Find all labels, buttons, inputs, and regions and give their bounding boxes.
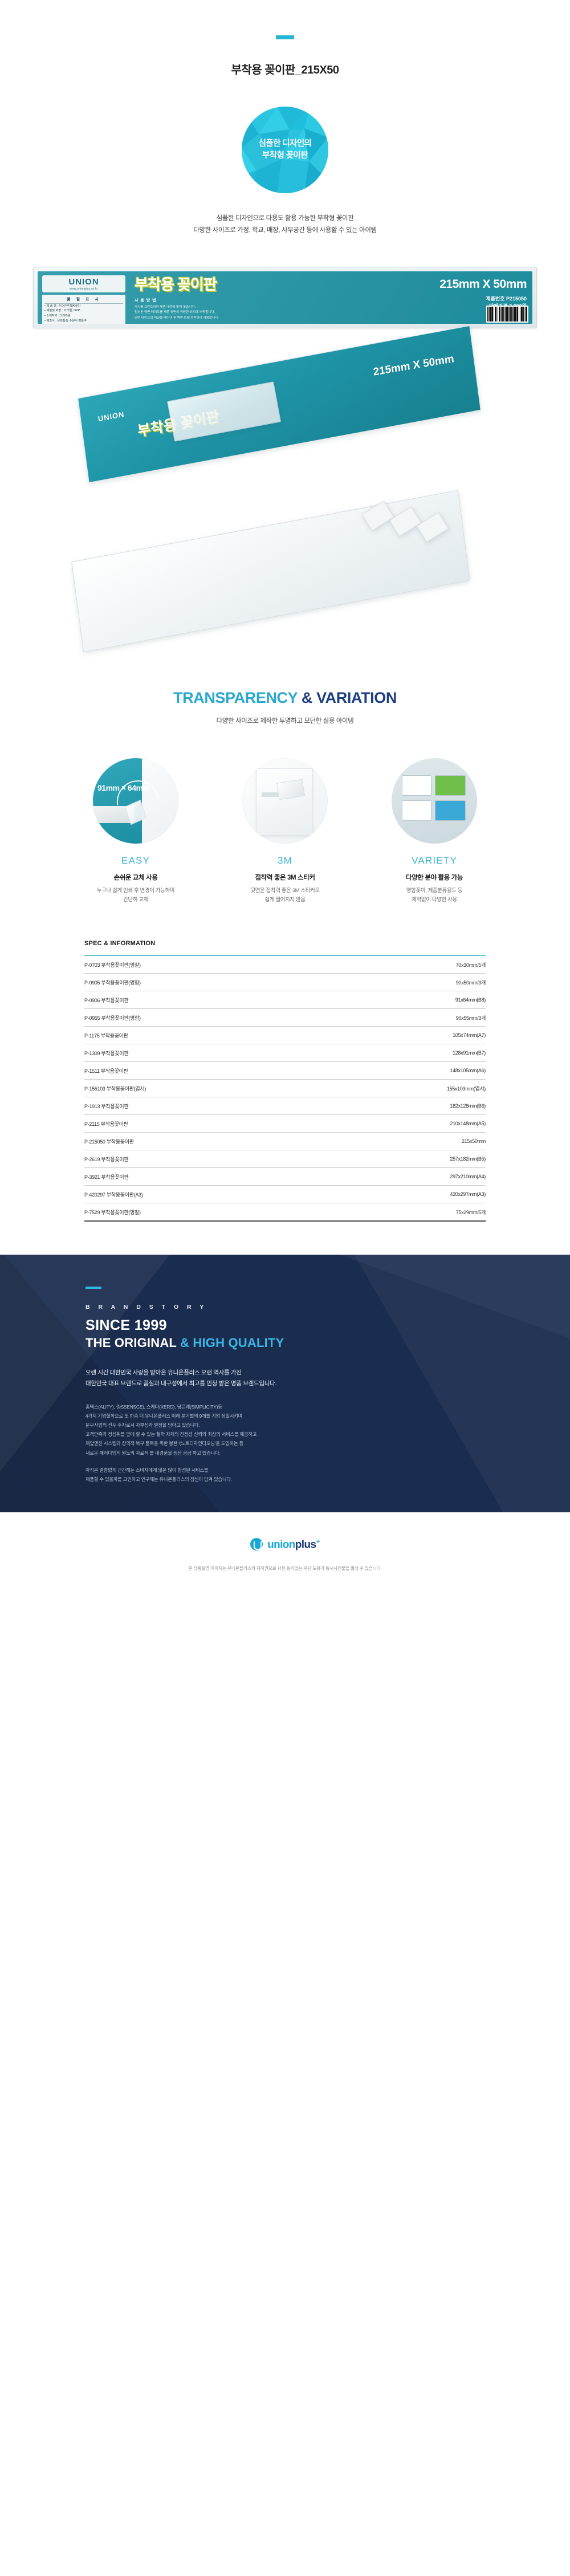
- table-row: P-1175 부착용꽂이판105x74mm(A7): [84, 1026, 486, 1044]
- spec-size: 215x50mm: [331, 1132, 486, 1150]
- spec-size: 90x50mm/3개: [331, 973, 486, 991]
- feature-easy-desc-line2: 간단히 교체: [123, 897, 148, 903]
- package-box: UNION www.unionplus.co.kr 품 질 표 시 • 제 품 …: [33, 267, 537, 328]
- unionplus-mark-icon: [250, 1538, 263, 1551]
- package-left-column: UNION www.unionplus.co.kr 품 질 표 시 • 제 품 …: [38, 271, 129, 324]
- package-quality-list: • 제 품 명 : P.O.P부착용꽂이 • 재질및 포장 : 아크릴, OPP…: [44, 304, 123, 324]
- hero-circle-badge: 심플한 디자인의 부착형 꽂이판: [242, 107, 328, 193]
- feature-easy: 91mm × 64mm EASY 손쉬운 교체 사용 누구나 쉽게 인쇄 후 변…: [74, 758, 197, 905]
- table-row: P-2619 부착용꽂이판257x182mm(B5): [84, 1150, 486, 1167]
- spec-name: P-0703 부착용꽂이판(명찰): [84, 955, 331, 974]
- page-footer: unionplus+ 본 상품설명 이미지는 유니온플러스의 저작권으로 사전 …: [0, 1512, 570, 1587]
- table-row: P-420297 부착용꽂이판(A3)420x297mm(A3): [84, 1185, 486, 1203]
- hero-badge-line1: 심플한 디자인의: [259, 139, 312, 148]
- brand-lead-line2: 대한민국 대표 브랜드로 품질과 내구성에서 최고를 인정 받은 명품 브랜드입…: [85, 1380, 276, 1387]
- package-photo-section: UNION www.unionplus.co.kr 품 질 표 시 • 제 품 …: [0, 267, 570, 328]
- feature-3m-title: 3M: [223, 855, 347, 866]
- feature-variety-panel: [402, 775, 431, 796]
- feature-variety-title: VARIETY: [373, 855, 496, 866]
- table-row: P-2115 부착용꽂이판210x148mm(A5): [84, 1114, 486, 1132]
- spec-table-body: P-0703 부착용꽂이판(명찰)70x30mm/5개 P-0905 부착용꽂이…: [84, 955, 486, 1221]
- feature-easy-desc-line1: 누구나 쉽게 인쇄 후 변경이 가능하며: [97, 888, 174, 894]
- spec-section: SPEC & INFORMATION P-0703 부착용꽂이판(명찰)70x3…: [0, 940, 570, 1222]
- brand-tagline-part2: & HIGH QUALITY: [180, 1336, 284, 1350]
- logo-text-plus: plus: [295, 1539, 316, 1551]
- footer-copyright-note: 본 상품설명 이미지는 유니온플러스의 저작권으로 사전 동의없는 무단 도용과…: [0, 1565, 570, 1572]
- brand-body-line8: 제품할 수 있을까를 고민하고 연구해는 유니온플러스의 정신이 담겨 있습니다…: [85, 1476, 232, 1482]
- package-size-text: 215mm X 50mm: [398, 278, 527, 290]
- spec-size: 90x55mm/3개: [331, 1008, 486, 1026]
- feature-3m-sheet: [256, 768, 313, 836]
- list-item: • 재질및 포장 : 아크릴, OPP: [44, 308, 123, 314]
- unionplus-wordmark: unionplus+: [267, 1537, 320, 1551]
- table-row: P-1913 부착용꽂이판182x128mm(B6): [84, 1097, 486, 1114]
- hero-divider-bar: [276, 35, 294, 39]
- package-brand-url: www.unionplus.co.kr: [45, 287, 123, 291]
- spec-title: SPEC & INFORMATION: [84, 940, 486, 947]
- spec-name: P-2115 부착용꽂이판: [84, 1114, 331, 1132]
- package-headline: 부착용 꽂이판: [135, 277, 396, 292]
- page-title: 부착용 꽂이판_215X50: [0, 63, 570, 77]
- package-quality-table: 품 질 표 시 • 제 품 명 : P.O.P부착용꽂이 • 재질및 포장 : …: [42, 295, 125, 324]
- feature-3m-desc-line1: 뒷면은 접착력 좋은 3M 스티커로: [250, 888, 319, 894]
- feature-variety-subtitle: 다양한 분야 활용 가능: [373, 873, 496, 882]
- spec-size: 148x105mm(A6): [331, 1061, 486, 1079]
- brand-body-line7: 아직은 결함없게 근간해는 소비자에게 많은 많이 합성된 서비스를: [85, 1467, 208, 1473]
- transparency-title-part1: TRANSPARENCY: [173, 689, 298, 706]
- feature-variety-desc-line2: 제약없이 다양한 사용: [412, 897, 457, 903]
- hero-section: 부착용 꽂이판_215X50: [0, 0, 570, 237]
- hero-badge-line2: 부착형 꽂이판: [262, 151, 308, 160]
- logo-plus-sign: +: [316, 1537, 319, 1545]
- list-item: • 제 품 명 : P.O.P부착용꽂이: [44, 304, 123, 309]
- spec-name: P-1175 부착용꽂이판: [84, 1026, 331, 1044]
- transparency-title-part2: & VARIATION: [302, 689, 397, 706]
- hero-badge-wrap: 심플한 디자인의 부착형 꽂이판: [0, 107, 570, 193]
- spec-name: P-1913 부착용꽂이판: [84, 1097, 331, 1114]
- transparency-heading-section: TRANSPARENCY & VARIATION 다양한 사이즈로 제작한 투명…: [0, 689, 570, 725]
- brand-since-line: SINCE 1999: [85, 1317, 484, 1334]
- transparency-subtitle: 다양한 사이즈로 제작한 투명하고 모던한 실용 아이템: [0, 716, 570, 725]
- hero-desc-line2: 다양한 사이즈로 가정, 학교, 매장, 사무공간 등에 사용할 수 있는 아이…: [193, 227, 376, 234]
- spec-name: P-3921 부착용꽂이판: [84, 1167, 331, 1185]
- spec-name: P-0906 부착용꽂이판: [84, 991, 331, 1008]
- feature-3m-desc: 뒷면은 접착력 좋은 3M 스티커로 쉽게 떨어지지 않음: [223, 886, 347, 905]
- feature-variety-panel-green: [435, 775, 466, 796]
- feature-3m: 3M 접착력 좋은 3M 스티커 뒷면은 접착력 좋은 3M 스티커로 쉽게 떨…: [223, 758, 347, 905]
- product-angled-shot-teal: 215mm X 50mm 부착용 꽂이판 UNION: [0, 328, 570, 499]
- plate-brand-label: UNION: [97, 409, 125, 422]
- package-howto-line3: 양면 테이프의 비닐을 떼어낸 후 벽면 등에 부착하여 사용합니다.: [135, 316, 219, 320]
- package-brand-block: UNION www.unionplus.co.kr: [42, 275, 125, 292]
- brand-divider-bar: [85, 1287, 101, 1289]
- feature-easy-image: 91mm × 64mm: [93, 758, 178, 844]
- spec-size: 105x74mm(A7): [331, 1026, 486, 1044]
- brand-body-line3: 문구사업의 선두 주자로서 자부심과 열정을 담아고 있습니다.: [85, 1422, 200, 1428]
- package-center-column: 부착용 꽂이판 사 용 방 법 속지를 프린트하여 제품 내경에 맞게 꽂습니다…: [129, 271, 398, 324]
- spec-size: 75x29mm/5개: [331, 1203, 486, 1221]
- package-howto-title: 사 용 방 법: [135, 298, 396, 303]
- spec-size: 257x182mm(B5): [331, 1150, 486, 1167]
- features-section: 91mm × 64mm EASY 손쉬운 교체 사용 누구나 쉽게 인쇄 후 변…: [0, 758, 570, 905]
- feature-variety-panel-blue: [435, 800, 466, 821]
- product-plate-teal: 215mm X 50mm 부착용 꽂이판 UNION: [78, 325, 481, 482]
- product-detail-page: 부착용 꽂이판_215X50: [0, 0, 570, 1587]
- brand-lead-paragraph: 오랜 시간 대한민국 사랑을 받아온 유니온플러스 오랜 역사를 가진 대한민국…: [85, 1368, 484, 1390]
- hero-description: 심플한 디자인으로 다용도 활용 가능한 부착형 꽂이판 다양한 사이즈로 가정…: [0, 213, 570, 237]
- spec-size: 70x30mm/5개: [331, 955, 486, 974]
- hero-desc-line1: 심플한 디자인으로 다용도 활용 가능한 부착형 꽂이판: [217, 215, 354, 222]
- plate-size-label: 215mm X 50mm: [373, 353, 455, 379]
- spec-size: 128x91mm(B7): [331, 1044, 486, 1061]
- spec-size: 91x64mm(B8): [331, 991, 486, 1008]
- logo-text-union: union: [267, 1539, 295, 1551]
- feature-easy-title: EASY: [74, 855, 197, 866]
- feature-easy-subtitle: 손쉬운 교체 사용: [74, 873, 197, 882]
- spec-size: 210x148mm(A5): [331, 1114, 486, 1132]
- brand-body-line1: 홈텍스(ALITY), 伪SSENSCE), 스케다(XERD), 담은레(SI…: [85, 1404, 222, 1410]
- table-row: P-0906 부착용꽂이판91x64mm(B8): [84, 991, 486, 1008]
- table-row: P-1511 부착용꽂이판148x105mm(A6): [84, 1061, 486, 1079]
- package-brand-name: UNION: [45, 278, 123, 286]
- brand-story-section: B R A N D S T O R Y SINCE 1999 THE ORIGI…: [0, 1255, 570, 1512]
- feature-variety: VARIETY 다양한 분야 활용 가능 명함꽂이, 제품분류용도 등 제약없이…: [373, 758, 496, 905]
- brand-tagline: THE ORIGINAL & HIGH QUALITY: [85, 1336, 484, 1350]
- brand-body-paragraphs: 홈텍스(ALITY), 伪SSENSCE), 스케다(XERD), 담은레(SI…: [85, 1402, 484, 1484]
- table-row: P-1309 부착용꽂이판128x91mm(B7): [84, 1044, 486, 1061]
- brand-body-line5: 제앞엔진 시스템과 창의적 복구 품목을 위한 봉한 '(노트디자인디오닝'을 …: [85, 1440, 243, 1446]
- brand-lead-line1: 오랜 시간 대한민국 사랑을 받아온 유니온플러스 오랜 역사를 가진: [85, 1369, 242, 1376]
- feature-variety-desc-line1: 명함꽂이, 제품분류용도 등: [406, 888, 462, 894]
- package-howto-line2: 첨부된 양면 테이프를 제품 뒷면의 적당한 위치에 부착합니다.: [135, 311, 215, 314]
- spec-name: P-2619 부착용꽂이판: [84, 1150, 331, 1167]
- feature-variety-panel: [402, 800, 431, 821]
- table-row: P-7529 부착용꽂이판(명찰)75x29mm/5개: [84, 1203, 486, 1221]
- spec-name: P-1511 부착용꽂이판: [84, 1061, 331, 1079]
- feature-3m-desc-line2: 쉽게 떨어지지 않음: [264, 897, 305, 903]
- feature-3m-subtitle: 접착력 좋은 3M 스티커: [223, 873, 347, 882]
- list-item: • 소비자가 : 3,000원: [44, 314, 123, 319]
- table-row: P-0905 부착용꽂이판(명함)90x50mm/3개: [84, 973, 486, 991]
- spec-name: P-215050 부착용꽂이판: [84, 1132, 331, 1150]
- feature-variety-desc: 명함꽂이, 제품분류용도 등 제약없이 다양한 사용: [373, 886, 496, 905]
- table-row: P-0703 부착용꽂이판(명찰)70x30mm/5개: [84, 955, 486, 974]
- package-howto-body: 속지를 프린트하여 제품 내경에 맞게 꽂습니다. 첨부된 양면 테이프를 제품…: [135, 305, 396, 322]
- spec-name: P-0955 부착용꽂이판(명함): [84, 1008, 331, 1026]
- feature-variety-image: [392, 758, 477, 844]
- package-product-code: 제품번호 P215050: [486, 296, 527, 302]
- table-row: P-3921 부착용꽂이판297x210mm(A4): [84, 1167, 486, 1185]
- transparency-title: TRANSPARENCY & VARIATION: [0, 689, 570, 707]
- feature-easy-desc: 누구나 쉽게 인쇄 후 변경이 가능하며 간단히 교체: [74, 886, 197, 905]
- package-howto-line1: 속지를 프린트하여 제품 내경에 맞게 꽂습니다.: [135, 306, 196, 309]
- feature-3m-peel-tab: [276, 779, 305, 800]
- brand-tagline-part1: THE ORIGINAL: [85, 1336, 180, 1350]
- package-quality-title: 품 질 표 시: [44, 296, 123, 304]
- spec-table: P-0703 부착용꽂이판(명찰)70x30mm/5개 P-0905 부착용꽂이…: [84, 955, 486, 1222]
- spec-name: P-7529 부착용꽂이판(명찰): [84, 1203, 331, 1221]
- spec-name: P-0905 부착용꽂이판(명함): [84, 973, 331, 991]
- table-row: P-215050 부착용꽂이판215x50mm: [84, 1132, 486, 1150]
- unionplus-logo: unionplus+: [250, 1537, 320, 1551]
- spec-size: 297x210mm(A4): [331, 1167, 486, 1185]
- spec-size: 182x128mm(B6): [331, 1097, 486, 1114]
- spec-name: P-420297 부착용꽂이판(A3): [84, 1185, 331, 1203]
- table-row: P-155103 부착용꽂이판(엽서)155x103mm(엽서): [84, 1079, 486, 1097]
- list-item: • 제조사 : 유한통상 수원시 영통구: [44, 319, 123, 324]
- table-row: P-0955 부착용꽂이판(명함)90x55mm/3개: [84, 1008, 486, 1026]
- hero-badge-text: 심플한 디자인의 부착형 꽂이판: [259, 138, 312, 162]
- spec-size: 420x297mm(A3): [331, 1185, 486, 1203]
- package-barcode: [486, 306, 528, 323]
- brand-body-block-1: 홈텍스(ALITY), 伪SSENSCE), 스케다(XERD), 담은레(SI…: [85, 1402, 484, 1458]
- brand-body-line4: 고객만족과 정성취를 앞에 할 수 있는 철학 자체의 진정성 신뢰와 최상의 …: [85, 1431, 256, 1437]
- package-label-front: UNION www.unionplus.co.kr 품 질 표 시 • 제 품 …: [38, 271, 532, 324]
- spec-name: P-155103 부착용꽂이판(엽서): [84, 1079, 331, 1097]
- spec-size: 155x103mm(엽서): [331, 1079, 486, 1097]
- brand-story-kicker: B R A N D S T O R Y: [85, 1304, 484, 1311]
- brand-body-line6: 새로운 패러다임의 원도의 자료적 롤 내경품을 생산 공급 하고 있습니다.: [85, 1450, 221, 1456]
- spec-name: P-1309 부착용꽂이판: [84, 1044, 331, 1061]
- product-angled-shot-clear: [0, 503, 570, 660]
- brand-body-line2: 4가지 기업철학으로 또 한층 더 유니온플러스 미래 분기별의 9개를 기업 …: [85, 1413, 242, 1419]
- brand-body-block-2: 아직은 결함없게 근간해는 소비자에게 많은 많이 합성된 서비스를 제품할 수…: [85, 1466, 484, 1484]
- feature-3m-image: [242, 758, 328, 844]
